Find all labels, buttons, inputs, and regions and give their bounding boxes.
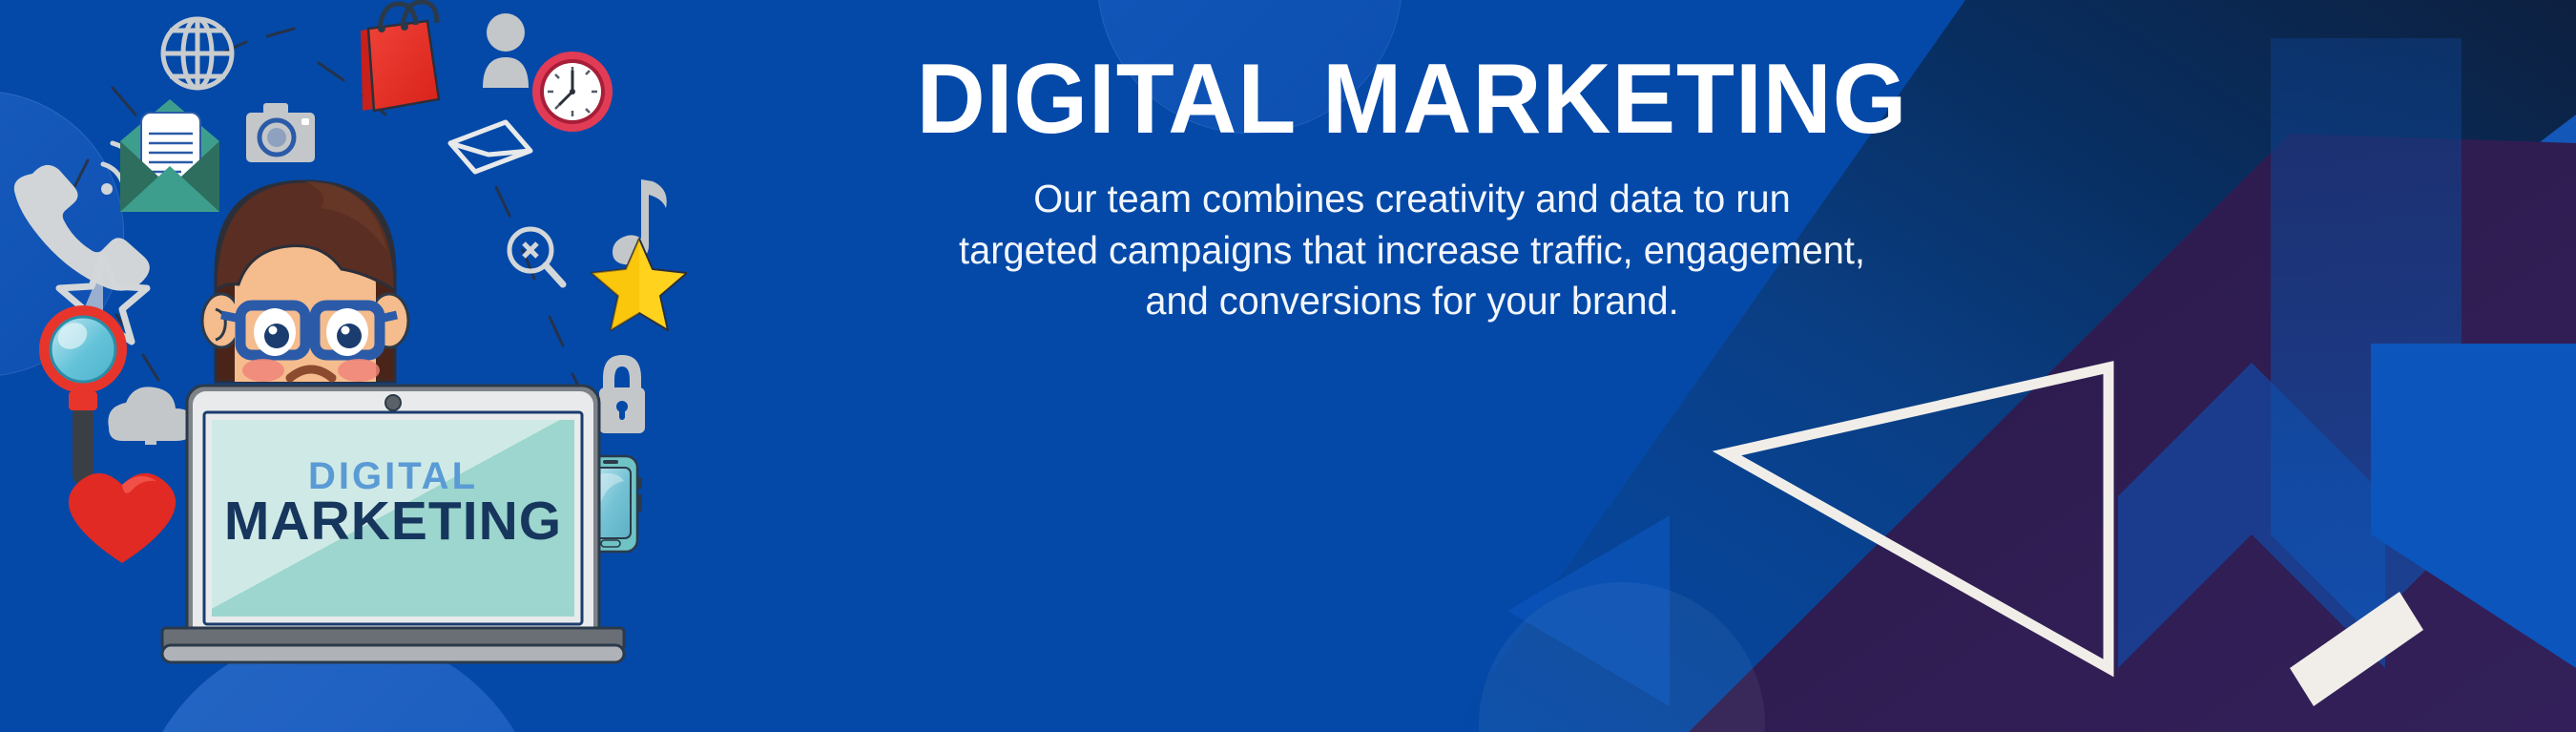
search-close-icon [509, 229, 563, 284]
clock-icon [532, 52, 613, 132]
decorative-circle-right [2385, 0, 2576, 210]
blue-chevron-upper [2118, 363, 2385, 668]
digital-marketing-banner: DIGITAL MARKETING DIGITAL MARKETING Our … [0, 0, 2576, 732]
envelope-outline-icon [450, 122, 530, 172]
cloud-upload-icon [108, 387, 195, 445]
subtitle-line-2: targeted campaigns that increase traffic… [834, 225, 1991, 276]
subtitle-line-3: and conversions for your brand. [834, 276, 1991, 326]
marketing-illustration: DIGITAL MARKETING [0, 0, 687, 732]
shopping-bag-icon [361, 2, 439, 111]
laptop-screen-line2: MARKETING [224, 491, 562, 552]
globe-icon [163, 19, 232, 88]
heart-icon [69, 473, 176, 563]
blue-triangle-small [1507, 515, 1670, 706]
camera-icon [246, 103, 315, 162]
white-diagonal-stripe [2290, 592, 2423, 706]
star-filled-icon [592, 239, 687, 330]
blue-triangle-right [2371, 344, 2576, 668]
copy-block: DIGITAL MARKETING Our team combines crea… [816, 46, 2008, 326]
blue-arrow-column [2271, 38, 2462, 630]
envelope-letter-icon [120, 99, 219, 212]
white-triangle-outline [1727, 367, 2109, 668]
purple-circle-faint [1479, 582, 1765, 732]
lock-icon [599, 355, 645, 433]
laptop-device: DIGITAL MARKETING [162, 386, 624, 662]
subtitle-line-1: Our team combines creativity and data to… [834, 174, 1991, 224]
page-subtitle: Our team combines creativity and data to… [834, 174, 1991, 326]
magnifier-icon [39, 305, 127, 485]
page-title: DIGITAL MARKETING [840, 46, 1984, 153]
user-avatar-icon [483, 13, 529, 88]
